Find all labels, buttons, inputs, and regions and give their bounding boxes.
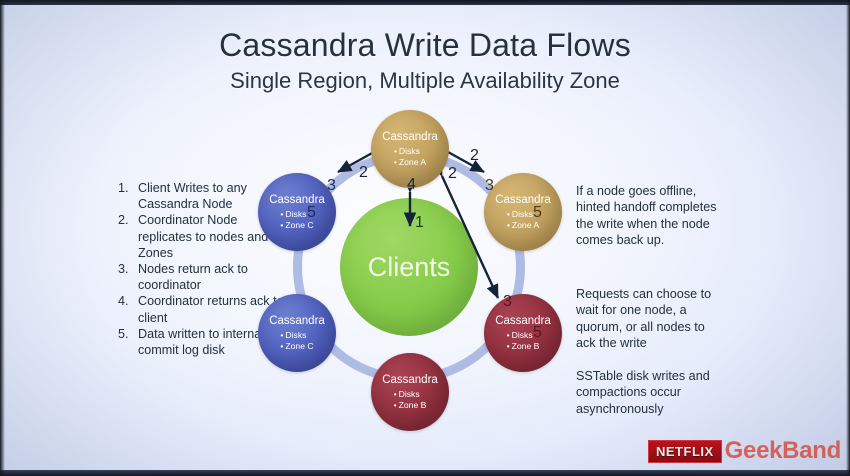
arrow-top-to-upperleft	[338, 152, 374, 172]
flow-label-5-commitlog-left: 5	[307, 204, 316, 222]
node-zone: Zone A	[394, 157, 426, 168]
node-details: Disks Zone A	[394, 146, 426, 167]
flow-label-2-replicate-right-inner: 2	[448, 165, 457, 183]
node-disks: Disks	[280, 330, 313, 341]
cassandra-node-zone-a-right: Cassandra Disks Zone A	[484, 173, 562, 251]
flow-label-5-commitlog-lowerright: 5	[533, 324, 542, 342]
node-disks: Disks	[394, 389, 427, 400]
step-number: 2.	[118, 212, 138, 261]
slide-title: Cassandra Write Data Flows	[0, 27, 850, 64]
node-title: Cassandra	[269, 315, 325, 328]
video-edge-top	[0, 0, 850, 5]
flow-label-2-replicate-right-outer: 2	[470, 147, 479, 165]
flow-label-4-ack-to-client: 4	[407, 176, 416, 194]
node-title: Cassandra	[382, 374, 438, 387]
video-edge-bottom	[0, 470, 850, 476]
note-sstable: SSTable disk writes and compactions occu…	[576, 368, 726, 417]
note-hinted-handoff: If a node goes offline, hinted handoff c…	[576, 183, 726, 248]
node-title: Cassandra	[495, 315, 551, 328]
node-title: Cassandra	[382, 131, 438, 144]
flow-label-3-ack-upperright: 3	[485, 177, 494, 195]
step-number: 1.	[118, 180, 138, 212]
node-zone: Zone C	[280, 341, 313, 352]
cassandra-ring-diagram: Clients Cassandra Disks Zone A	[270, 108, 590, 428]
flow-label-3-ack-upperleft: 3	[327, 177, 336, 195]
flow-label-2-replicate-left: 2	[359, 164, 368, 182]
slide-subtitle: Single Region, Multiple Availability Zon…	[0, 68, 850, 94]
node-zone: Zone B	[394, 400, 427, 411]
step-number: 4.	[118, 293, 138, 325]
flow-label-5-commitlog-right: 5	[533, 204, 542, 222]
netflix-wordmark: NETFLIX	[648, 440, 722, 463]
slide-canvas: Cassandra Write Data Flows Single Region…	[0, 0, 850, 476]
step-number: 3.	[118, 261, 138, 293]
note-consistency: Requests can choose to wait for one node…	[576, 286, 726, 351]
netflix-geekband-logo: NETFLIX GeekBand	[648, 437, 841, 465]
cassandra-node-zone-c-lower: Cassandra Disks Zone C	[258, 294, 336, 372]
node-details: Disks Zone C	[280, 330, 313, 351]
list-item: 3. Nodes return ack to coordinator	[118, 261, 293, 293]
flow-label-1-client-write: 1	[415, 214, 424, 232]
geekband-wordmark: GeekBand	[725, 437, 841, 465]
cassandra-node-zone-b-bottom: Cassandra Disks Zone B	[371, 353, 449, 431]
cassandra-node-zone-b-right: Cassandra Disks Zone B	[484, 294, 562, 372]
node-title: Cassandra	[495, 194, 551, 207]
step-number: 5.	[118, 326, 138, 358]
node-details: Disks Zone B	[394, 389, 427, 410]
cassandra-node-zone-c-upper: Cassandra Disks Zone C	[258, 173, 336, 251]
node-title: Cassandra	[269, 194, 325, 207]
node-zone: Zone B	[507, 341, 540, 352]
node-disks: Disks	[394, 146, 426, 157]
flow-label-3-ack-lowerright: 3	[503, 293, 512, 311]
